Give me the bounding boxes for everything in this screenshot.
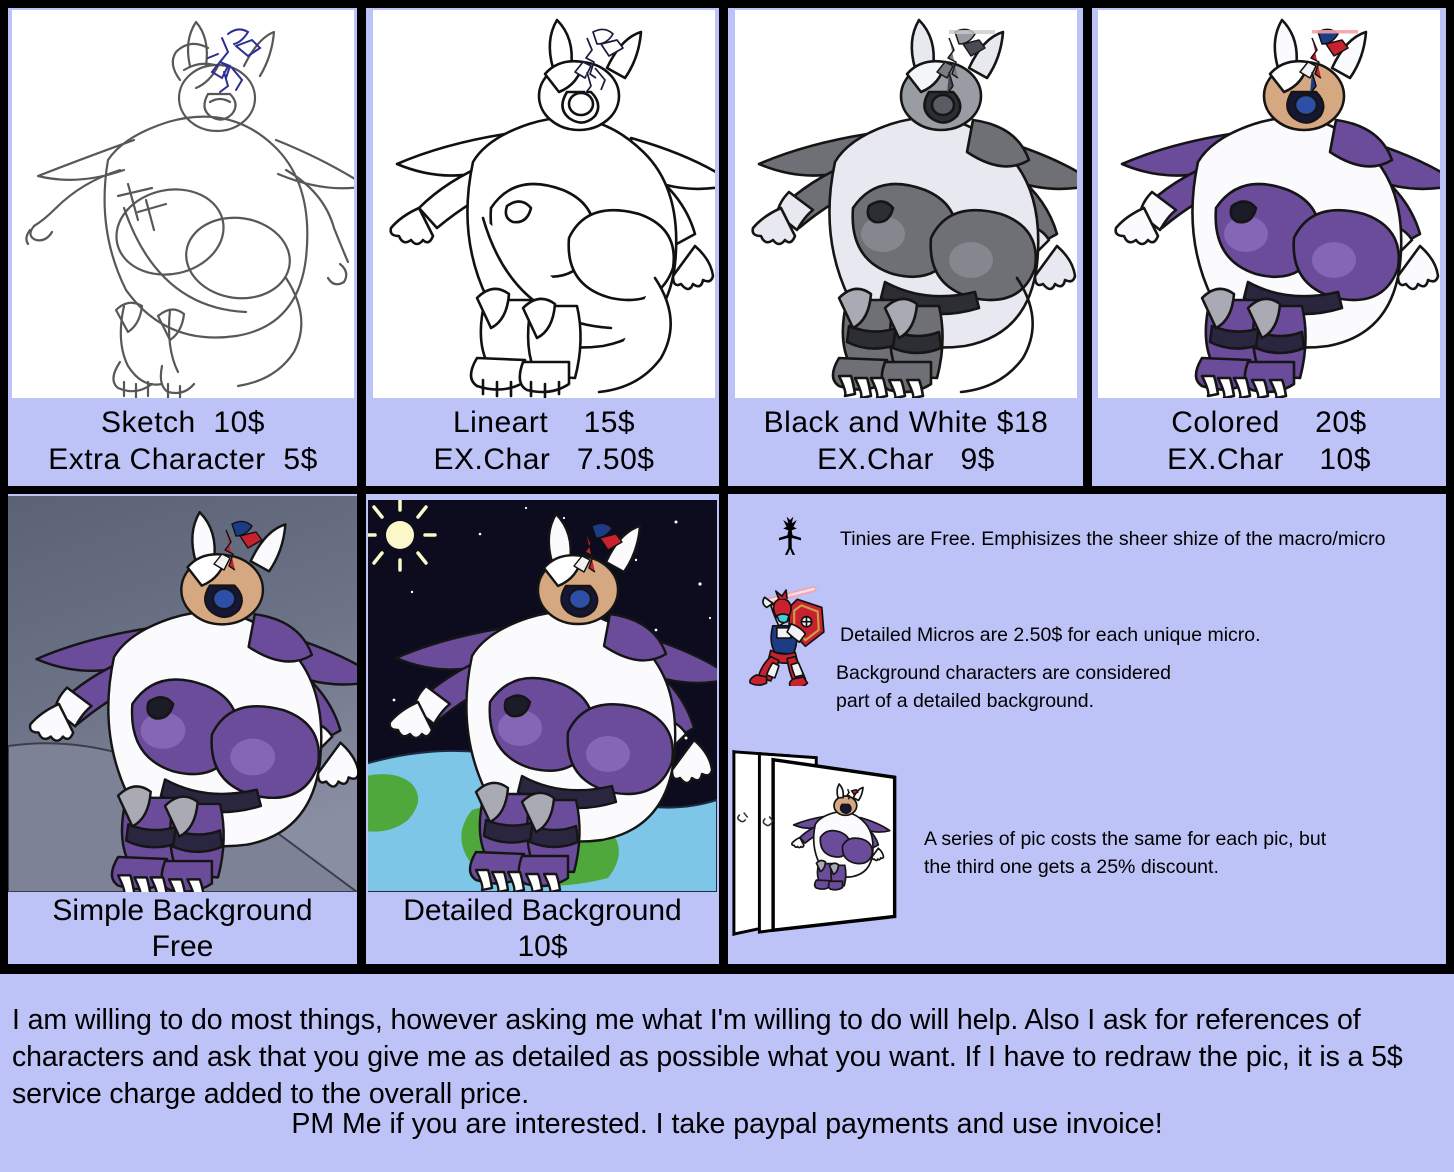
price-bar-colored: Colored 20$ EX.Char 10$ xyxy=(1098,400,1440,484)
micro-warrior-figure xyxy=(738,582,830,686)
art-panel-black-and-white xyxy=(735,10,1077,398)
frame-col-divider-3 xyxy=(1083,0,1092,487)
tier-title-lineart: Lineart 15$ xyxy=(453,405,635,442)
colored-artwork xyxy=(1098,10,1440,398)
picture-series-stack-icon xyxy=(730,740,926,940)
lineart-artwork xyxy=(373,10,715,398)
bg-title-detailed: Detailed Background xyxy=(403,893,682,929)
simple-background-artwork xyxy=(8,496,357,892)
frame-col-divider-2 xyxy=(719,0,728,487)
art-panel-colored xyxy=(1098,10,1440,398)
art-panel-simple-background xyxy=(8,496,357,892)
tier-title-black-and-white: Black and White $18 xyxy=(764,405,1049,442)
info-panel: Tinies are Free. Emphisizes the sheer sh… xyxy=(728,494,1446,964)
tier-title-sketch: Sketch 10$ xyxy=(101,405,265,442)
bg-label-detailed-background: Detailed Background 10$ xyxy=(368,894,717,964)
tier-extra-sketch: Extra Character 5$ xyxy=(48,442,318,479)
tiny-figure-icon xyxy=(773,516,807,558)
detailed-background-artwork xyxy=(368,500,717,892)
bg-price-simple: Free xyxy=(152,929,214,965)
art-panel-lineart xyxy=(373,10,715,398)
info-series-discount: A series of pic costs the same for each … xyxy=(924,826,1424,881)
footer-paragraph: I am willing to do most things, however … xyxy=(12,1002,1444,1113)
bg-label-simple-background: Simple Background Free xyxy=(8,894,357,964)
price-bar-black-and-white: Black and White $18 EX.Char 9$ xyxy=(735,400,1077,484)
tier-extra-black-and-white: EX.Char 9$ xyxy=(817,442,995,479)
footer-pm-line: PM Me if you are interested. I take payp… xyxy=(0,1106,1454,1143)
tier-extra-colored: EX.Char 10$ xyxy=(1167,442,1371,479)
frame-col-divider-1 xyxy=(357,0,366,487)
price-bar-sketch: Sketch 10$ Extra Character 5$ xyxy=(12,400,354,484)
commission-price-sheet: Sketch 10$ Extra Character 5$ Lineart 15… xyxy=(0,0,1454,1172)
sketch-artwork xyxy=(12,10,354,398)
info-background-characters: Background characters are considered par… xyxy=(836,660,1416,715)
tier-title-colored: Colored 20$ xyxy=(1171,405,1366,442)
info-tinies: Tinies are Free. Emphisizes the sheer sh… xyxy=(840,526,1420,554)
frame-col-divider-row2-1 xyxy=(357,493,366,968)
frame-col-divider-row2-2 xyxy=(719,493,728,968)
art-panel-detailed-background xyxy=(368,500,717,892)
info-micros: Detailed Micros are 2.50$ for each uniqu… xyxy=(840,622,1420,650)
tier-extra-lineart: EX.Char 7.50$ xyxy=(434,442,655,479)
art-panel-sketch xyxy=(12,10,354,398)
price-bar-lineart: Lineart 15$ EX.Char 7.50$ xyxy=(373,400,715,484)
grayscale-artwork xyxy=(735,10,1077,398)
footer-block: I am willing to do most things, however … xyxy=(0,974,1454,1172)
bg-title-simple: Simple Background xyxy=(52,893,312,929)
bg-price-detailed: 10$ xyxy=(517,929,567,965)
